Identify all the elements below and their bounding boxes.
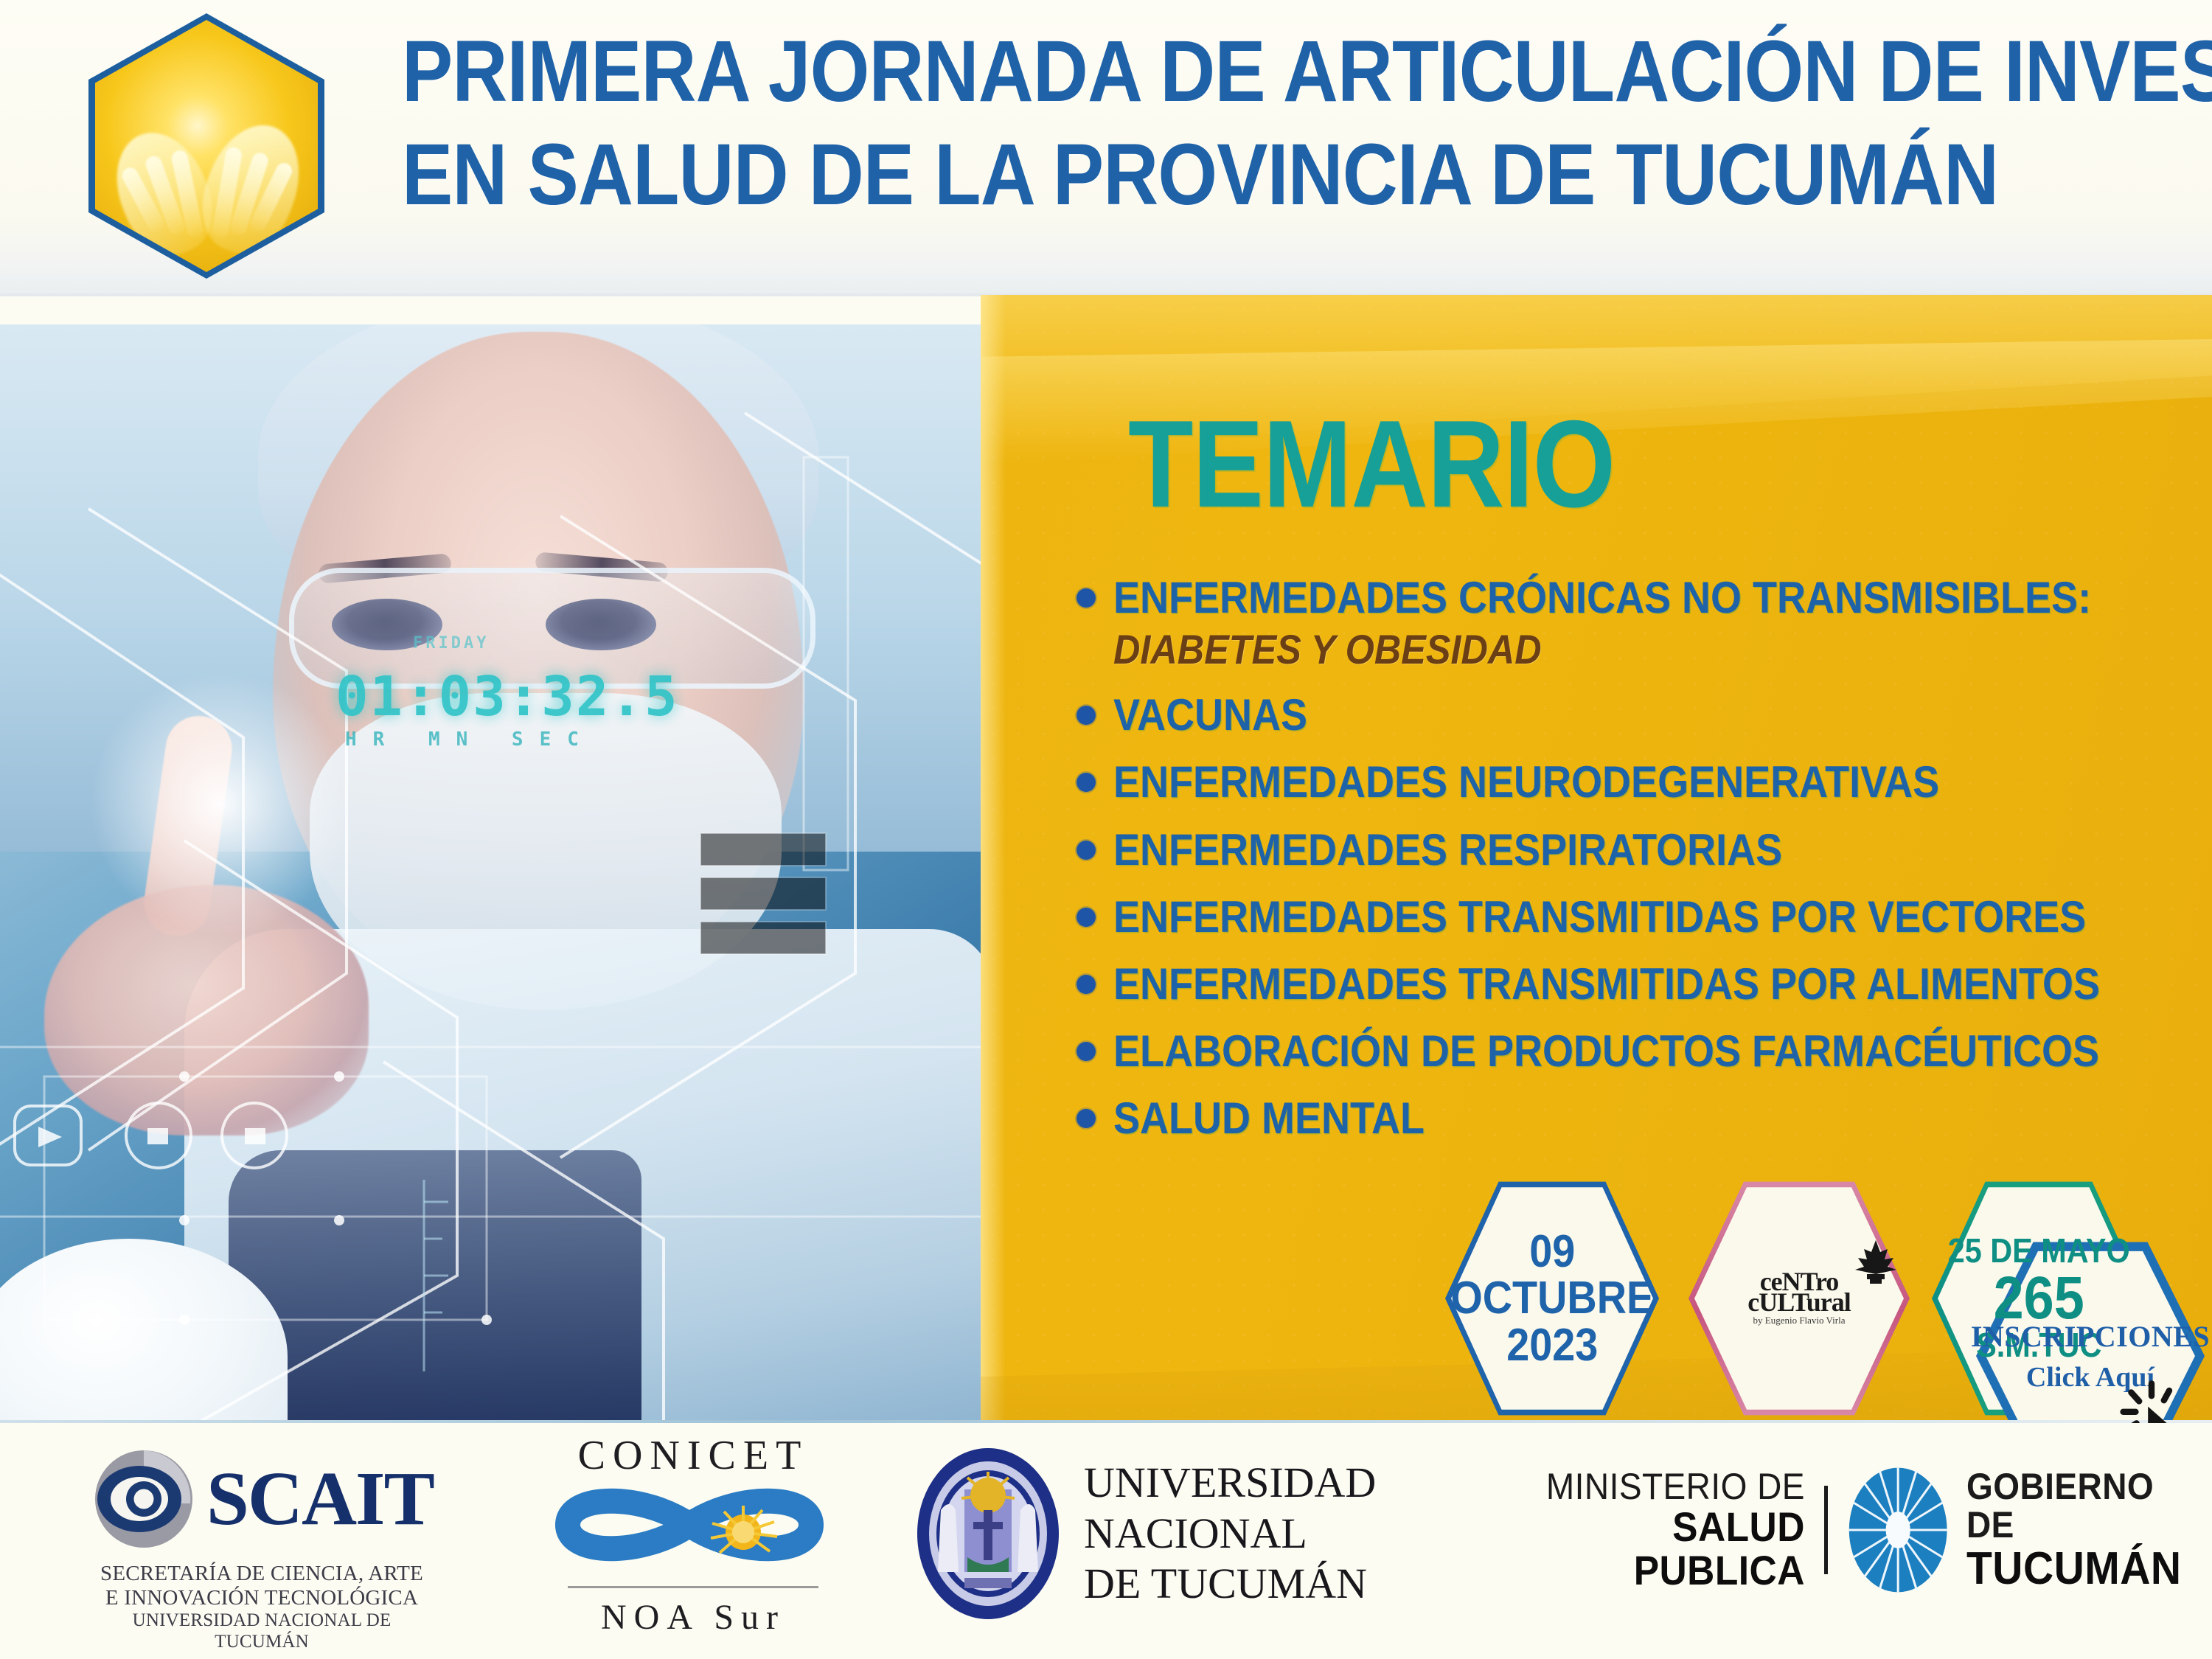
government-logo: MINISTERIO DE SALUD PUBLICA xyxy=(1489,1460,2212,1600)
topic-label: ENFERMEDADES RESPIRATORIAS xyxy=(1113,827,1782,872)
poster-title: PRIMERA JORNADA DE ARTICULACIÓN DE INVES… xyxy=(402,28,2157,234)
topic-label: ELABORACIÓN DE PRODUCTOS FARMACÉUTICOS xyxy=(1113,1029,2099,1074)
list-item: ENFERMEDADES CRÓNICAS NO TRANSMISIBLES: … xyxy=(1077,575,2175,670)
ministry-line-1: MINISTERIO DE xyxy=(1514,1467,1805,1506)
poster-footer: SCAIT SECRETARÍA DE CIENCIA, ARTE E INNO… xyxy=(0,1423,2212,1659)
topic-label: ENFERMEDADES TRANSMITIDAS POR ALIMENTOS xyxy=(1113,961,2100,1006)
conicet-name: CONICET xyxy=(546,1432,841,1479)
topic-sublabel: DIABETES Y OBESIDAD xyxy=(1113,629,2091,670)
laboratory-scientist-photo: FRIDAY 01:03:32.5 HR MN SEC xyxy=(0,324,988,1423)
address-street: 25 DE MAYO xyxy=(1948,1234,2130,1269)
title-line-2: EN SALUD DE LA PROVINCIA DE TUCUMÁN xyxy=(402,131,1946,218)
list-item: ENFERMEDADES RESPIRATORIAS xyxy=(1077,827,2175,872)
date-day: 09 xyxy=(1450,1228,1654,1275)
scait-sub-3: UNIVERSIDAD NACIONAL DE TUCUMÁN xyxy=(88,1610,435,1652)
bullet-icon xyxy=(1077,841,1096,860)
conicet-infinity-sun-icon xyxy=(553,1479,833,1575)
panel-heading: TEMARIO xyxy=(1128,402,1615,526)
poster-header: PRIMERA JORNADA DE ARTICULACIÓN DE INVES… xyxy=(0,0,2212,295)
event-date-badge: 09 OCTUBRE 2023 xyxy=(1445,1177,1659,1420)
list-item: ENFERMEDADES TRANSMITIDAS POR VECTORES xyxy=(1077,894,2175,939)
tucuman-sunburst-icon xyxy=(1847,1460,1949,1600)
topics-list: ENFERMEDADES CRÓNICAS NO TRANSMISIBLES: … xyxy=(1077,575,2175,1164)
event-poster: PRIMERA JORNADA DE ARTICULACIÓN DE INVES… xyxy=(0,0,2212,1659)
topic-label: ENFERMEDADES NEURODEGENERATIVAS xyxy=(1113,759,1939,804)
scait-name: SCAIT xyxy=(206,1464,434,1534)
bullet-icon xyxy=(1077,588,1096,608)
registration-title: INSCRIPCIONES xyxy=(1971,1319,2210,1354)
topic-label: VACUNAS xyxy=(1113,692,1307,737)
topic-label: ENFERMEDADES CRÓNICAS NO TRANSMISIBLES: xyxy=(1113,575,2091,620)
bullet-icon xyxy=(1077,908,1096,927)
unt-logo: UNIVERSIDAD NACIONAL DE TUCUMÁN xyxy=(914,1445,1376,1622)
government-line-2: TUCUMÁN xyxy=(1966,1545,2192,1593)
unt-seal-icon xyxy=(914,1445,1062,1622)
bullet-icon xyxy=(1077,1042,1096,1061)
unt-line-3: DE TUCUMÁN xyxy=(1084,1559,1376,1609)
scait-sub-2: E INNOVACIÓN TECNOLÓGICA xyxy=(88,1586,435,1610)
unt-line-2: NACIONAL xyxy=(1084,1509,1376,1559)
bullet-icon xyxy=(1077,706,1096,725)
scait-logo: SCAIT SECRETARÍA DE CIENCIA, ARTE E INNO… xyxy=(88,1444,435,1652)
topic-label: SALUD MENTAL xyxy=(1113,1096,1425,1141)
hexagon-hands-logo-icon xyxy=(88,13,324,279)
mouse-cursor-click-icon xyxy=(2116,1373,2205,1423)
topic-label: ENFERMEDADES TRANSMITIDAS POR VECTORES xyxy=(1113,894,2086,939)
date-month: OCTUBRE xyxy=(1450,1275,1654,1321)
crown-icon xyxy=(1855,1240,1896,1286)
bullet-icon xyxy=(1077,773,1096,792)
list-item: ENFERMEDADES TRANSMITIDAS POR ALIMENTOS xyxy=(1077,961,2175,1006)
ministry-line-2: SALUD PUBLICA xyxy=(1514,1506,1805,1593)
venue-line-3: by Eugenio Flavio Virla xyxy=(1747,1316,1850,1325)
conicet-logo: CONICET NOA Sur xyxy=(546,1432,841,1638)
list-item: VACUNAS xyxy=(1077,692,2175,737)
bullet-icon xyxy=(1077,1109,1096,1128)
hud-day-label: FRIDAY xyxy=(413,634,489,653)
government-line-1: GOBIERNO DE xyxy=(1966,1467,2192,1545)
unt-line-1: UNIVERSIDAD xyxy=(1084,1458,1376,1508)
conicet-region: NOA Sur xyxy=(546,1597,841,1638)
scait-swirl-icon xyxy=(88,1444,199,1554)
date-year: 2023 xyxy=(1450,1322,1654,1368)
title-line-1: PRIMERA JORNADA DE ARTICULACIÓN DE INVES… xyxy=(402,28,1946,115)
scait-sub-1: SECRETARÍA DE CIENCIA, ARTE xyxy=(88,1562,435,1586)
venue-line-2: cULTural xyxy=(1747,1290,1850,1315)
list-item: ENFERMEDADES NEURODEGENERATIVAS xyxy=(1077,759,2175,804)
hud-timer-units: HR MN SEC xyxy=(345,728,595,751)
bullet-icon xyxy=(1077,975,1096,994)
hud-timer-value: 01:03:32.5 xyxy=(335,665,679,728)
list-item: ELABORACIÓN DE PRODUCTOS FARMACÉUTICOS xyxy=(1077,1029,2175,1074)
list-item: SALUD MENTAL xyxy=(1077,1096,2175,1141)
venue-logo-badge: ceNTro cULTural by Eugenio Flavio Virla xyxy=(1688,1177,1910,1420)
poster-body: FRIDAY 01:03:32.5 HR MN SEC TEMARIO ENFE… xyxy=(0,295,2212,1423)
